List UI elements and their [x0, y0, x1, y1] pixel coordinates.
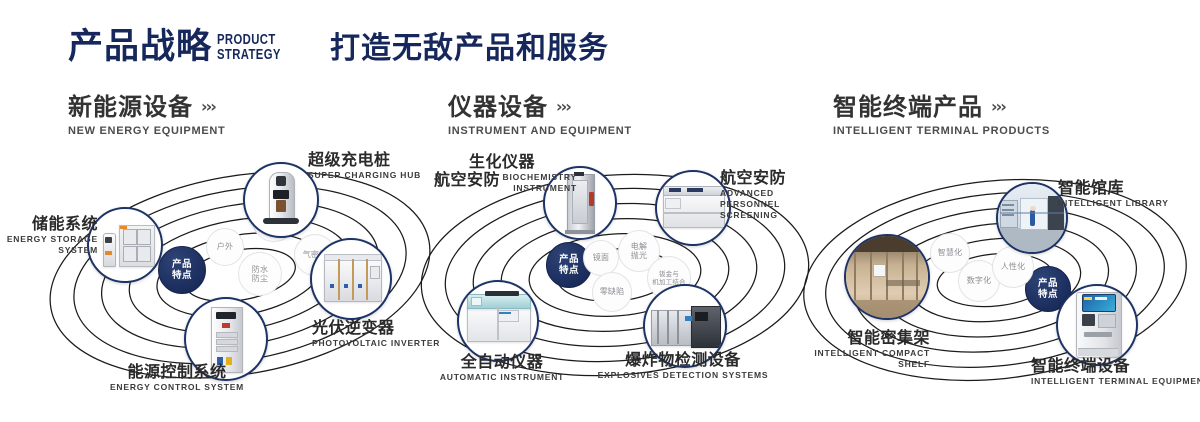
- feature-bubble-zero-defect: 零缺陷: [592, 272, 632, 312]
- caption-energy-control-system-en: ENERGY CONTROL SYSTEM: [82, 382, 272, 393]
- caption-explosives-detection: 爆炸物检测设备 EXPLOSIVES DETECTION SYSTEMS: [588, 350, 778, 381]
- core-badge-new-energy: 产品 特点: [158, 246, 206, 294]
- feature-bubble-mirror-finish: 镜面: [583, 240, 619, 276]
- section-title-instrument-en: INSTRUMENT AND EQUIPMENT: [448, 125, 632, 137]
- section-title-instrument-text: 仪器设备: [448, 93, 548, 121]
- node-intelligent-compact-shelf[interactable]: [844, 234, 930, 320]
- caption-automatic-instrument: 全自动仪器 AUTOMATIC INSTRUMENT: [407, 352, 597, 383]
- feature-bubble-line2: 防尘: [252, 274, 268, 284]
- caption-energy-control-system-cn: 能源控制系统: [82, 362, 272, 381]
- cluster-instrument: 产品 特点 镜面 电解 抛光 零缺陷 钣金与 机加工结合: [415, 150, 815, 400]
- page-title: 产品战略: [68, 27, 212, 67]
- cluster-intelligent-terminal: 产品 特点 智慧化 数字化 人性化: [800, 150, 1200, 400]
- feature-bubble-outdoor: 户外: [206, 228, 244, 266]
- core-badge-line2: 特点: [172, 270, 192, 281]
- feature-bubble-line1: 防水: [252, 265, 268, 275]
- caption-intelligent-library-cn: 智能馆库: [1058, 178, 1169, 197]
- feature-bubble-line1: 钣金与: [659, 270, 679, 278]
- section-title-intelligent-terminal-cn: 智能终端产品›››: [833, 93, 1050, 121]
- section-title-intelligent-terminal-text: 智能终端产品: [833, 93, 983, 121]
- kiosk-terminal-icon: [1058, 286, 1136, 364]
- chevron-right-icon: ›››: [991, 93, 1005, 121]
- feature-bubble-line1: 户外: [217, 242, 233, 252]
- section-title-instrument-cn: 仪器设备›››: [448, 93, 632, 121]
- caption-super-charging-hub-cn: 超级充电桩: [308, 150, 421, 169]
- node-energy-storage[interactable]: [87, 207, 163, 283]
- chevron-right-icon: ›››: [556, 93, 570, 121]
- pv-inverter-icon: [312, 240, 390, 318]
- feature-bubble-line1: 镜面: [593, 253, 609, 263]
- page-title-english-line2: STRATEGY: [217, 48, 281, 63]
- node-automatic-instrument[interactable]: [457, 280, 539, 362]
- page-title-english: PRODUCT STRATEGY: [217, 33, 281, 63]
- section-title-new-energy-text: 新能源设备: [68, 93, 193, 121]
- section-title-new-energy-en: NEW ENERGY EQUIPMENT: [68, 125, 225, 137]
- page-title-english-line1: PRODUCT: [217, 33, 281, 48]
- feature-bubble-line1: 数字化: [967, 276, 992, 286]
- core-badge-line2: 特点: [559, 265, 579, 276]
- caption-energy-control-system: 能源控制系统 ENERGY CONTROL SYSTEM: [82, 362, 272, 393]
- feature-bubble-line1: 智慧化: [938, 248, 963, 258]
- core-badge-line1: 产品: [559, 254, 579, 265]
- energy-storage-cabinet-icon: [89, 209, 161, 281]
- caption-biochemistry-instrument: 生化仪器 BIOCHEMISTRY INSTRUMENT: [469, 152, 577, 194]
- feature-bubble-waterproof: 防水 防尘: [238, 252, 282, 296]
- caption-intelligent-library-en: INTELLIGENT LIBRARY: [1058, 198, 1169, 209]
- caption-automatic-instrument-cn: 全自动仪器: [407, 352, 597, 371]
- screening-machine-icon: [657, 172, 729, 244]
- caption-automatic-instrument-en: AUTOMATIC INSTRUMENT: [407, 372, 597, 383]
- page-slogan: 打造无敌产品和服务: [330, 31, 609, 67]
- core-badge-line1: 产品: [1038, 278, 1058, 289]
- node-intelligent-terminal-equipment[interactable]: [1056, 284, 1138, 366]
- caption-intelligent-terminal-equipment: 智能终端设备 INTELLIGENT TERMINAL EQUIPMENT: [1031, 356, 1200, 387]
- caption-biochemistry-instrument-cn: 生化仪器: [469, 152, 577, 171]
- caption-energy-storage: 储能系统 ENERGY STORAGE SYSTEM: [0, 214, 98, 256]
- caption-explosives-detection-cn: 爆炸物检测设备: [588, 350, 778, 369]
- chevron-right-icon: ›››: [201, 93, 215, 121]
- auto-analyzer-icon: [459, 282, 537, 360]
- section-title-intelligent-terminal-en: INTELLIGENT TERMINAL PRODUCTS: [833, 125, 1050, 137]
- charging-pile-icon: [245, 164, 317, 236]
- poster-header: 产品战略 PRODUCT STRATEGY 打造无敌产品和服务: [0, 0, 1200, 88]
- caption-energy-storage-cn: 储能系统: [0, 214, 98, 233]
- feature-bubble-line1: 人性化: [1001, 262, 1026, 272]
- library-room-icon: [998, 184, 1066, 252]
- caption-intelligent-compact-shelf-en: INTELLIGENT COMPACT SHELF: [780, 348, 930, 370]
- node-photovoltaic-inverter[interactable]: [310, 238, 392, 320]
- caption-explosives-detection-en: EXPLOSIVES DETECTION SYSTEMS: [588, 370, 778, 381]
- caption-biochemistry-instrument-en: BIOCHEMISTRY INSTRUMENT: [469, 172, 577, 194]
- compact-shelf-icon: [846, 236, 928, 318]
- product-strategy-poster: 产品战略 PRODUCT STRATEGY 打造无敌产品和服务 新能源设备›››…: [0, 0, 1200, 422]
- cluster-new-energy: 产品 特点 户外 防腐 防锈 防水 防尘 气密性: [40, 150, 440, 400]
- feature-bubble-line1: 电解: [631, 242, 647, 252]
- section-title-new-energy-cn: 新能源设备›››: [68, 93, 225, 121]
- caption-energy-storage-en: ENERGY STORAGE SYSTEM: [0, 234, 98, 256]
- feature-bubble-line1: 零缺陷: [600, 287, 625, 297]
- section-title-new-energy: 新能源设备››› NEW ENERGY EQUIPMENT: [68, 93, 225, 137]
- section-title-instrument: 仪器设备››› INSTRUMENT AND EQUIPMENT: [448, 93, 632, 137]
- caption-intelligent-compact-shelf: 智能密集架 INTELLIGENT COMPACT SHELF: [780, 328, 930, 370]
- core-badge-line2: 特点: [1038, 289, 1058, 300]
- caption-intelligent-terminal-equipment-en: INTELLIGENT TERMINAL EQUIPMENT: [1031, 376, 1200, 387]
- section-title-intelligent-terminal: 智能终端产品››› INTELLIGENT TERMINAL PRODUCTS: [833, 93, 1050, 137]
- feature-bubble-line2: 抛光: [631, 251, 647, 261]
- caption-intelligent-library: 智能馆库 INTELLIGENT LIBRARY: [1058, 178, 1169, 209]
- caption-intelligent-compact-shelf-cn: 智能密集架: [780, 328, 930, 347]
- core-badge-line1: 产品: [172, 259, 192, 270]
- caption-intelligent-terminal-equipment-cn: 智能终端设备: [1031, 356, 1200, 375]
